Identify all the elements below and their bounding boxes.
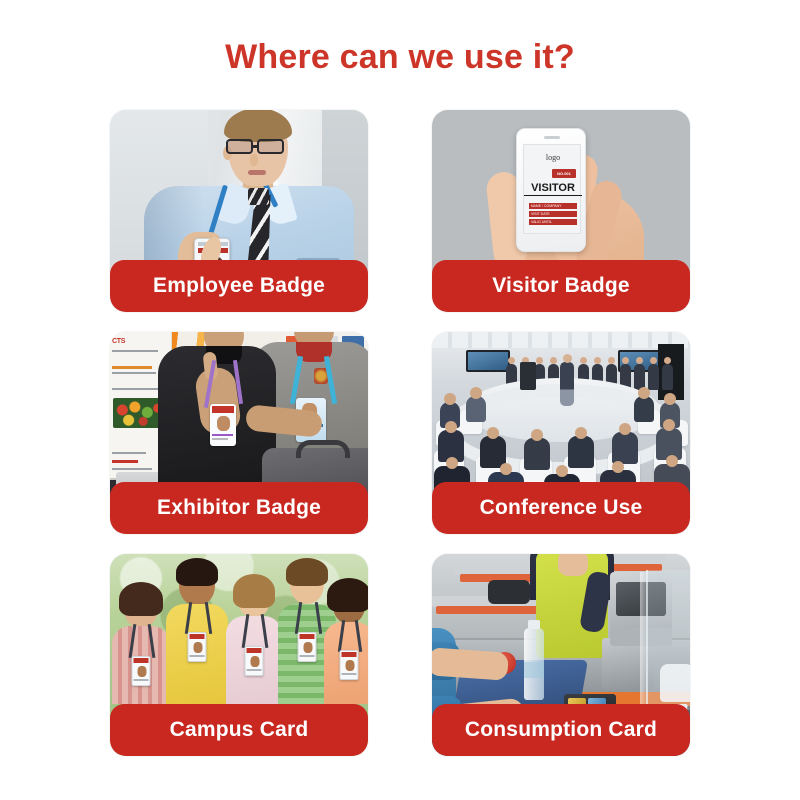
card-banner-visitor-badge: Visitor Badge [432,260,690,312]
use-case-card-visitor-badge[interactable]: logo NO.001 VISITOR NAME / COMPANY VISIT… [432,110,690,312]
plastic-bag [660,664,690,702]
campus-id-badge [188,632,207,662]
card-label: Visitor Badge [492,275,630,298]
hair [224,110,292,142]
use-case-card-consumption-card[interactable]: Consumption Card [432,554,690,756]
child-2 [166,562,228,704]
nose [250,154,258,166]
use-case-card-employee-badge[interactable]: Employee Badge [110,110,368,312]
screen-logo-text: logo [524,153,582,162]
podium [520,362,536,390]
hair [176,558,218,586]
child-3 [226,572,282,704]
card-banner-consumption-card: Consumption Card [432,704,690,756]
attendee [524,438,550,470]
screen-number-tag: NO.001 [552,169,576,178]
campus-id-badge [340,650,359,680]
tie-knot [248,188,269,205]
attendee [634,396,654,422]
use-case-card-exhibitor-badge[interactable]: CTS [110,332,368,534]
bottle-label [524,662,544,678]
hair [233,574,275,608]
screen-number-text: NO.001 [552,169,576,178]
campus-id-badge [245,646,264,676]
child-1 [112,582,170,704]
screen-line-3: VALID UNTIL [529,219,577,225]
device-screen: logo NO.001 VISITOR NAME / COMPANY VISIT… [523,144,581,234]
ceiling [432,332,690,348]
card-label: Consumption Card [465,719,657,742]
child-5 [324,576,368,704]
card-label: Employee Badge [153,275,325,298]
speaker-person [560,362,574,406]
card-label: Exhibitor Badge [157,497,321,520]
card-banner-conference-use: Conference Use [432,482,690,534]
background-bag [488,580,530,604]
use-case-card-campus-card[interactable]: Campus Card [110,554,368,756]
customer-arm-upper [432,647,509,681]
attendee [568,436,594,468]
page-title: Where can we use it? [0,38,800,77]
campus-id-badge [132,656,151,686]
staff-hand [558,554,588,576]
visitor-badge-device: logo NO.001 VISITOR NAME / COMPANY VISIT… [516,128,586,252]
glasses-icon [226,139,290,154]
attendee [612,432,638,464]
screen-line-2: VISIT DATE [529,211,577,217]
speaker-slot [544,136,560,139]
hair [286,558,328,586]
card-banner-employee-badge: Employee Badge [110,260,368,312]
card-label: Conference Use [480,497,643,520]
exhibitor-a-badge [210,404,236,446]
use-cases-page: Where can we use it? [0,0,800,800]
screen-line-1: NAME / COMPANY [529,203,577,209]
hair [327,578,368,612]
attendee [466,396,486,422]
booth-banner-title: CTS [112,338,125,345]
hair [119,582,163,616]
use-case-grid: Employee Badge logo NO.001 VISITOR [110,110,690,756]
campus-id-badge [298,632,317,662]
use-case-card-conference-use[interactable]: Conference Use [432,332,690,534]
card-label: Campus Card [170,719,309,742]
bottle-cap [528,620,540,629]
sneeze-guard-post [640,572,648,722]
screen-heading: VISITOR [524,182,582,196]
water-bottle [524,628,544,700]
mouth [248,170,266,175]
card-banner-exhibitor-badge: Exhibitor Badge [110,482,368,534]
card-banner-campus-card: Campus Card [110,704,368,756]
